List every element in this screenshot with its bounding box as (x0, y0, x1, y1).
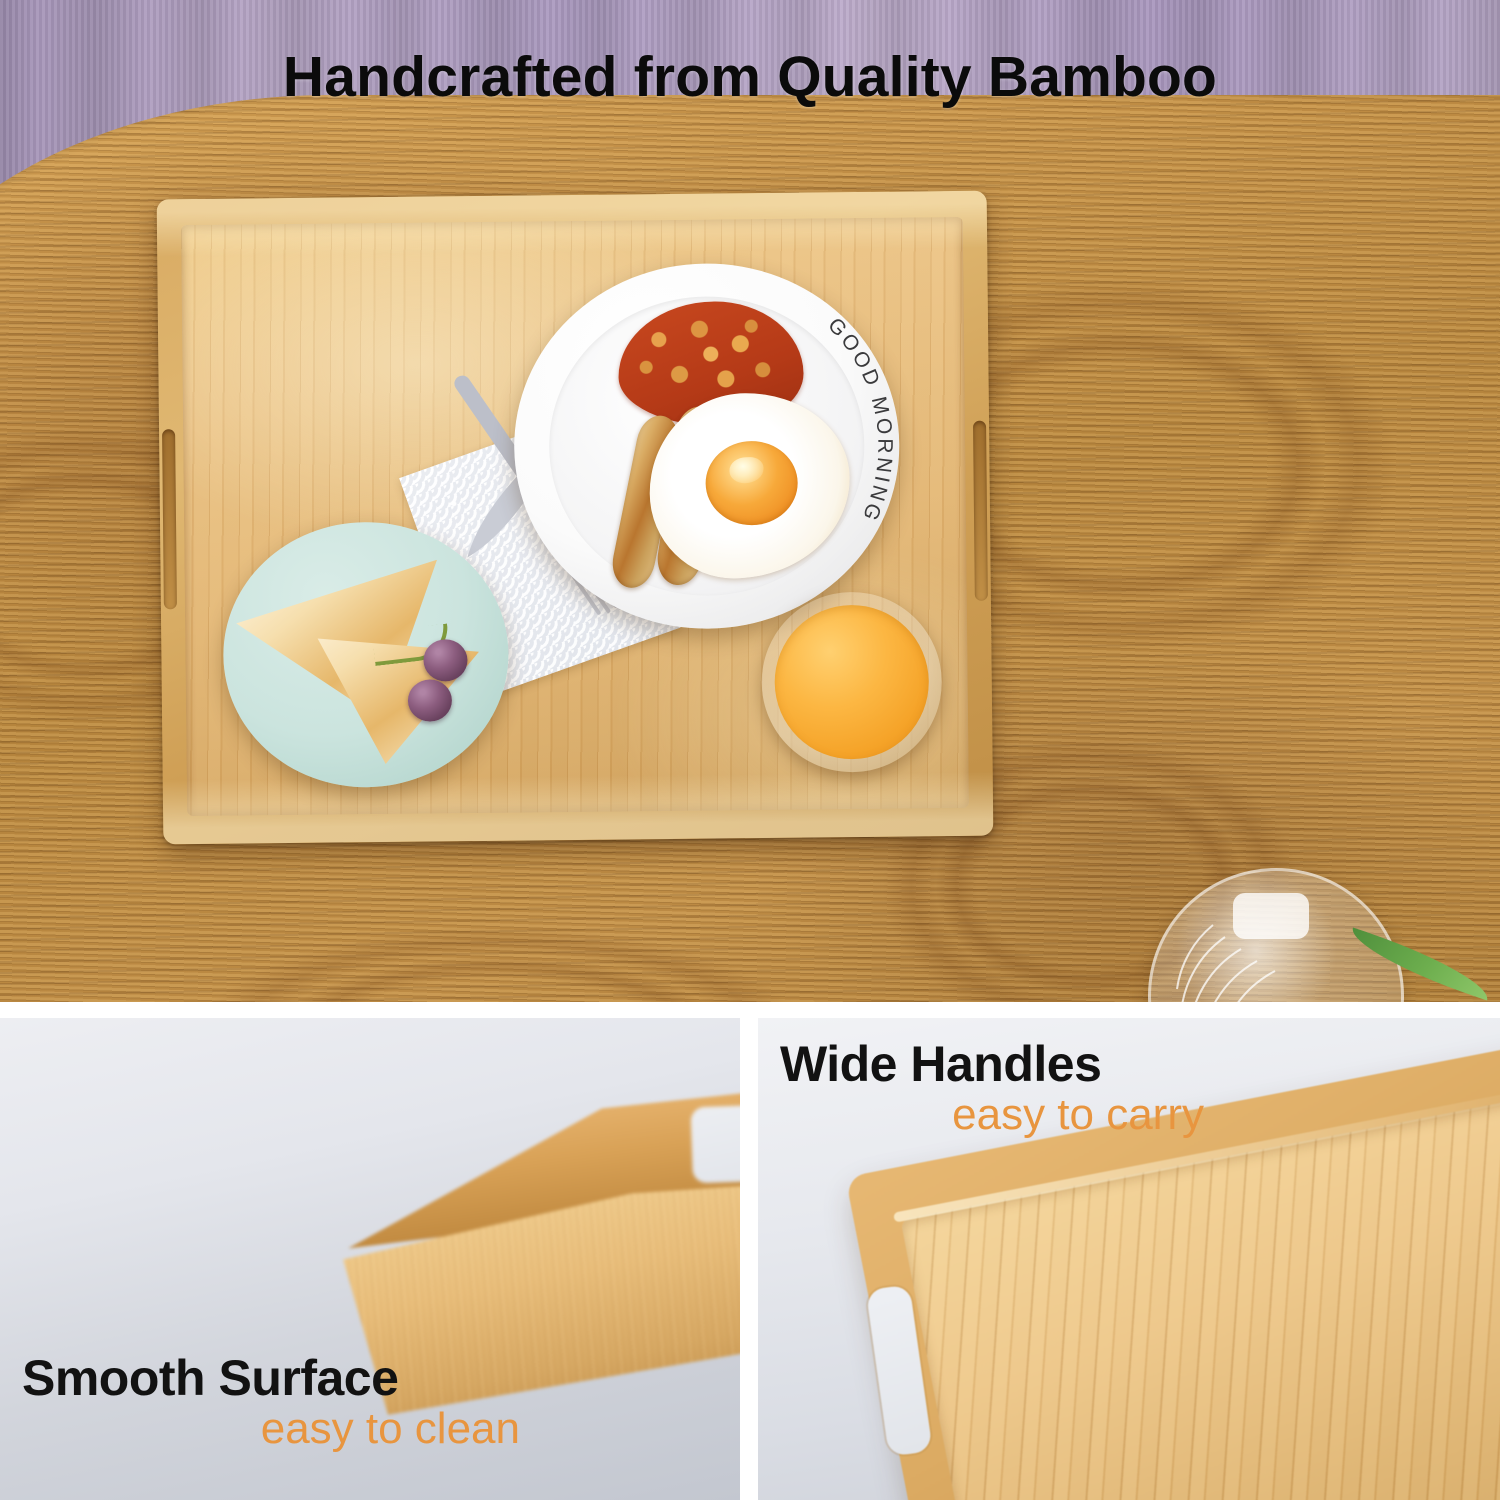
caption-title: Smooth Surface (22, 1352, 542, 1405)
tray-handle-right (973, 421, 988, 601)
breakfast-plate: GOOD MORNING (512, 262, 901, 631)
plate-rim-text: GOOD MORNING (512, 262, 901, 631)
wood-grain-knot (190, 925, 810, 1002)
caption-title: Wide Handles (780, 1038, 1210, 1091)
main-hero-photo: GOOD MORNING Handcrafted from Quality Ba… (0, 0, 1500, 1002)
caption-subtitle: easy to carry (780, 1091, 1210, 1139)
tray-handle-left (162, 429, 177, 609)
product-infographic: GOOD MORNING Handcrafted from Quality Ba… (0, 0, 1500, 1500)
tray-handle-cutout (690, 1101, 740, 1184)
orange-juice (774, 604, 930, 760)
bamboo-serving-tray: GOOD MORNING (157, 191, 994, 845)
cherry (408, 679, 452, 721)
headline: Handcrafted from Quality Bamboo (0, 44, 1500, 110)
caption-subtitle: easy to clean (22, 1405, 542, 1453)
caption-smooth-surface: Smooth Surface easy to clean (22, 1352, 542, 1453)
cherry (423, 639, 467, 681)
plate-rim-label: GOOD MORNING (823, 313, 897, 527)
caption-wide-handles: Wide Handles easy to carry (780, 1038, 1210, 1139)
